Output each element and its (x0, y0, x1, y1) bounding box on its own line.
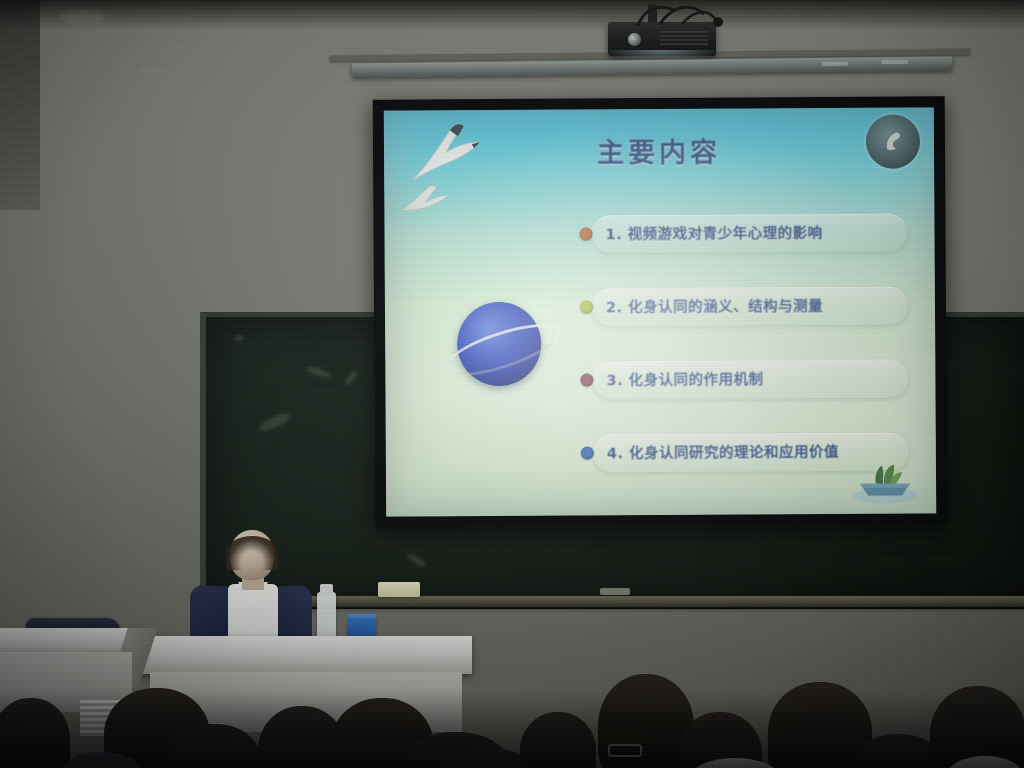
bullet-label: 2. 化身认同的涵义、结构与测量 (606, 295, 823, 317)
bullet-label: 4. 化身认同研究的理论和应用价值 (607, 441, 839, 463)
presenter-hair (226, 536, 278, 570)
blackboard-eraser (378, 582, 420, 597)
seagull-icon (398, 182, 454, 216)
student-head (0, 698, 70, 768)
slide-bullet-item: 1. 视频游戏对青少年心理的影响 (579, 213, 909, 261)
slide-title: 主要内容 (384, 129, 934, 171)
projector-cables (630, 0, 750, 40)
presentation-slide: 主要内容 1. 视频游戏对青少年心理的影响 2. 化身认同的涵义、结构与测量 (384, 107, 936, 516)
wall-corner-shadow (0, 0, 40, 210)
slide-bullet-item: 3. 化身认同的作用机制 (580, 359, 910, 407)
audience (0, 640, 1024, 768)
chalk-stick (600, 588, 630, 595)
slide-bullet-item: 2. 化身认同的涵义、结构与测量 (580, 286, 910, 334)
bullet-label: 3. 化身认同的作用机制 (606, 368, 763, 390)
bullet-label: 1. 视频游戏对青少年心理的影响 (605, 222, 822, 244)
ceiling-shadow (0, 0, 1024, 30)
island-graphic (850, 445, 920, 505)
student-head (520, 712, 596, 768)
wall-blemish (140, 66, 164, 74)
water-bottle-cap (320, 584, 333, 594)
wall-blemish (60, 10, 106, 24)
bullet-dot-icon (579, 227, 592, 240)
classroom-scene: 主要内容 1. 视频游戏对青少年心理的影响 2. 化身认同的涵义、结构与测量 (0, 0, 1024, 768)
student-glasses-icon (608, 744, 642, 757)
projection-screen: 主要内容 1. 视频游戏对青少年心理的影响 2. 化身认同的涵义、结构与测量 (373, 96, 948, 527)
bullet-dot-icon (581, 446, 594, 459)
bullet-dot-icon (580, 373, 593, 386)
bullet-dot-icon (580, 300, 593, 313)
planet-graphic (443, 294, 556, 395)
